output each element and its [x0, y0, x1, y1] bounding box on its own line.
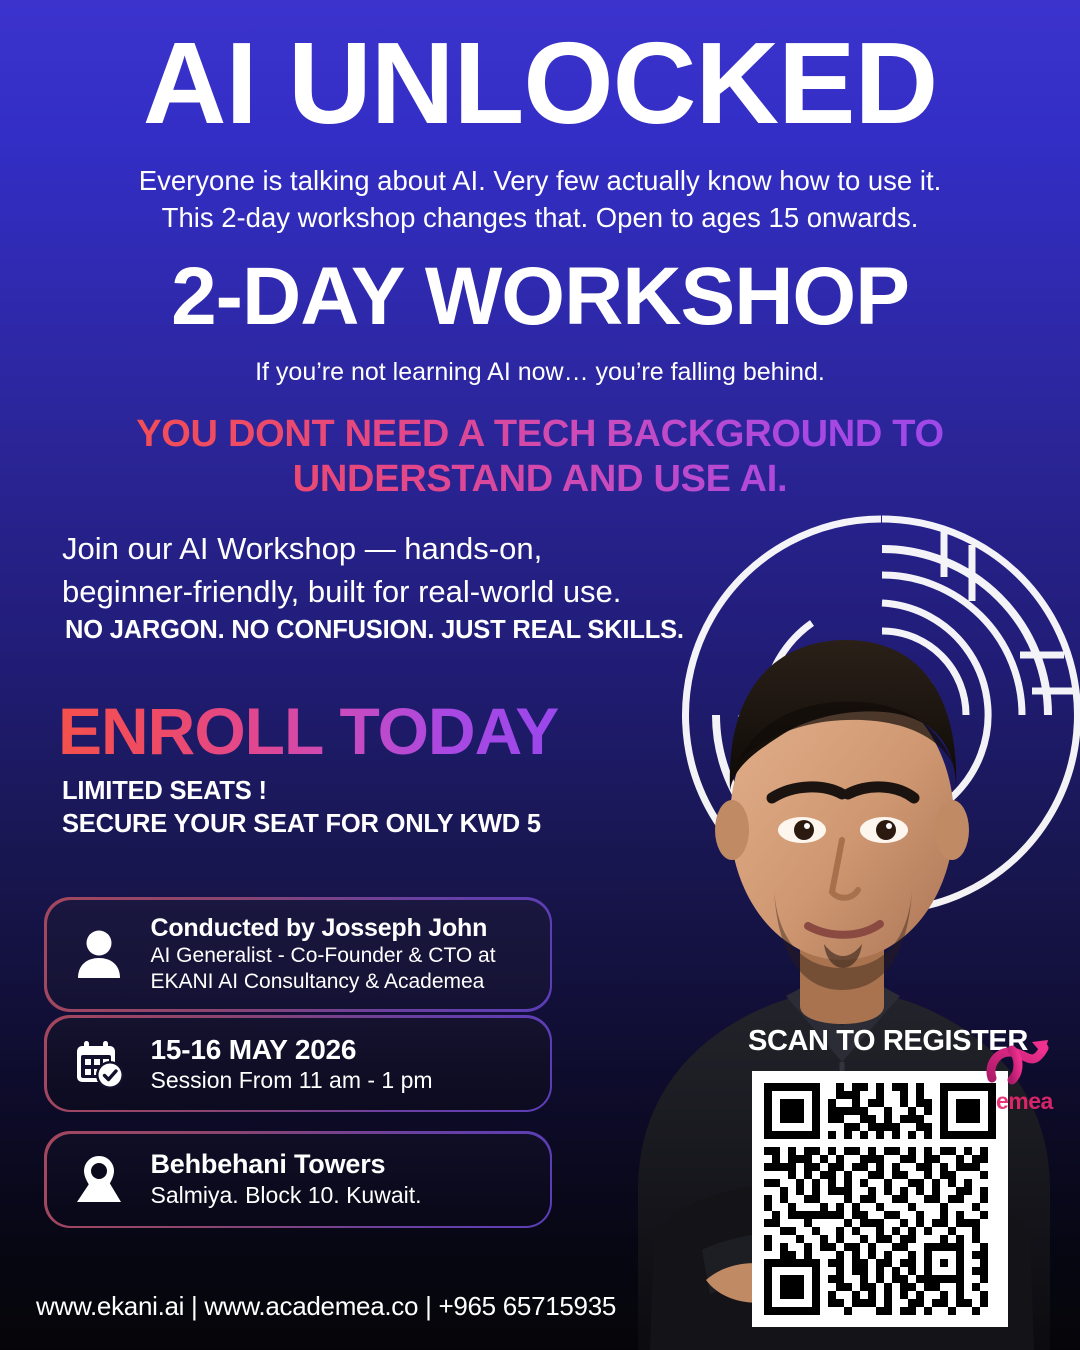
qr-code[interactable] — [764, 1083, 996, 1315]
qr-code-container[interactable] — [752, 1071, 1008, 1327]
lede-line-2: This 2-day workshop changes that. Open t… — [40, 199, 1040, 236]
no-jargon-text: NO JARGON. NO CONFUSION. JUST REAL SKILL… — [65, 616, 705, 645]
no-tech-line-2: UNDERSTAND AND USE AI. — [60, 457, 1020, 502]
lede-paragraph: Everyone is talking about AI. Very few a… — [40, 162, 1040, 237]
info-card-venue-inner: Behbehani Towers Salmiya. Block 10. Kuwa… — [47, 1134, 550, 1226]
event-date: 15-16 MAY 2026 — [151, 1033, 530, 1066]
join-line-1: Join our AI Workshop — hands-on, — [62, 528, 682, 571]
tagline-text: If you’re not learning AI now… you’re fa… — [40, 358, 1040, 387]
no-tech-background-headline: YOU DONT NEED A TECH BACKGROUND TO UNDER… — [60, 412, 1020, 502]
join-description: Join our AI Workshop — hands-on, beginne… — [62, 528, 682, 614]
info-card-date-inner: 15-16 MAY 2026 Session From 11 am - 1 pm — [47, 1018, 550, 1110]
speaker-role-line-2: EKANI AI Consultancy & Academea — [151, 969, 530, 995]
no-tech-line-1: YOU DONT NEED A TECH BACKGROUND TO — [60, 412, 1020, 457]
info-card-date: 15-16 MAY 2026 Session From 11 am - 1 pm — [44, 1015, 552, 1112]
info-card-speaker-text: Conducted by Josseph John AI Generalist … — [151, 914, 530, 996]
seats-info: LIMITED SEATS ! SECURE YOUR SEAT FOR ONL… — [62, 775, 682, 840]
info-card-speaker: Conducted by Josseph John AI Generalist … — [44, 897, 552, 1012]
location-pin-icon — [67, 1148, 131, 1212]
info-card-venue-text: Behbehani Towers Salmiya. Block 10. Kuwa… — [151, 1149, 530, 1209]
info-card-speaker-inner: Conducted by Josseph John AI Generalist … — [47, 900, 550, 1010]
venue-name: Behbehani Towers — [151, 1149, 530, 1181]
info-card-venue: Behbehani Towers Salmiya. Block 10. Kuwa… — [44, 1131, 552, 1228]
event-session-time: Session From 11 am - 1 pm — [151, 1066, 530, 1095]
info-card-date-text: 15-16 MAY 2026 Session From 11 am - 1 pm — [151, 1033, 530, 1095]
join-line-2: beginner-friendly, built for real-world … — [62, 571, 682, 614]
person-icon — [67, 922, 131, 986]
page-title: AI UNLOCKED — [0, 24, 1080, 142]
speaker-role-line-1: AI Generalist - Co-Founder & CTO at — [151, 943, 530, 969]
lede-line-1: Everyone is talking about AI. Very few a… — [40, 162, 1040, 199]
poster-root: AI UNLOCKED Everyone is talking about AI… — [0, 0, 1080, 1350]
tech-ring-graphic — [672, 505, 1080, 925]
enroll-today-cta: ENROLL TODAY — [58, 698, 558, 764]
workshop-heading: 2-DAY WORKSHOP — [0, 254, 1080, 339]
calendar-check-icon — [67, 1032, 131, 1096]
limited-seats-text: LIMITED SEATS ! — [62, 775, 682, 808]
speaker-name: Conducted by Josseph John — [151, 914, 530, 944]
footer-contact: www.ekani.ai | www.academea.co | +965 65… — [36, 1291, 616, 1322]
scan-to-register-label: SCAN TO REGISTER — [748, 1025, 1028, 1058]
venue-address: Salmiya. Block 10. Kuwait. — [151, 1181, 530, 1210]
price-text: SECURE YOUR SEAT FOR ONLY KWD 5 — [62, 808, 682, 841]
